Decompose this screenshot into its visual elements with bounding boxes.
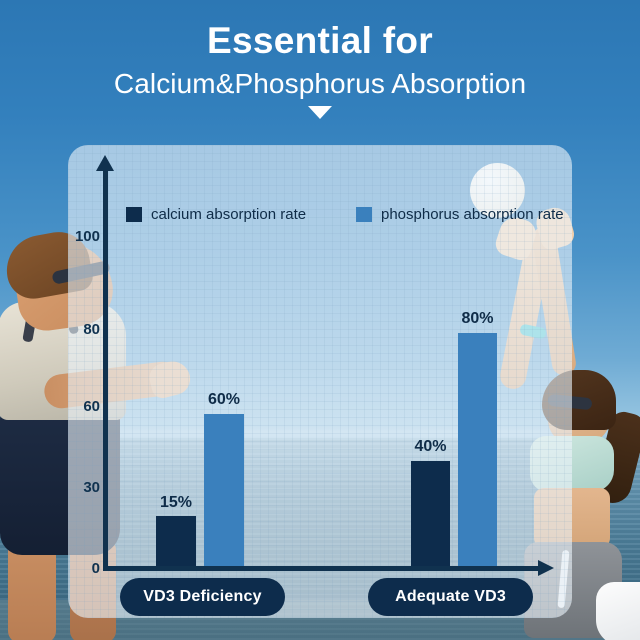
woman-leg (596, 582, 640, 640)
heading-block: Essential for Calcium&Phosphorus Absorpt… (0, 18, 640, 119)
page-subtitle: Calcium&Phosphorus Absorption (0, 66, 640, 102)
page-title: Essential for (0, 18, 640, 64)
chart-panel (68, 145, 572, 618)
infographic-stage: Essential for Calcium&Phosphorus Absorpt… (0, 0, 640, 640)
triangle-down-icon (308, 106, 332, 119)
